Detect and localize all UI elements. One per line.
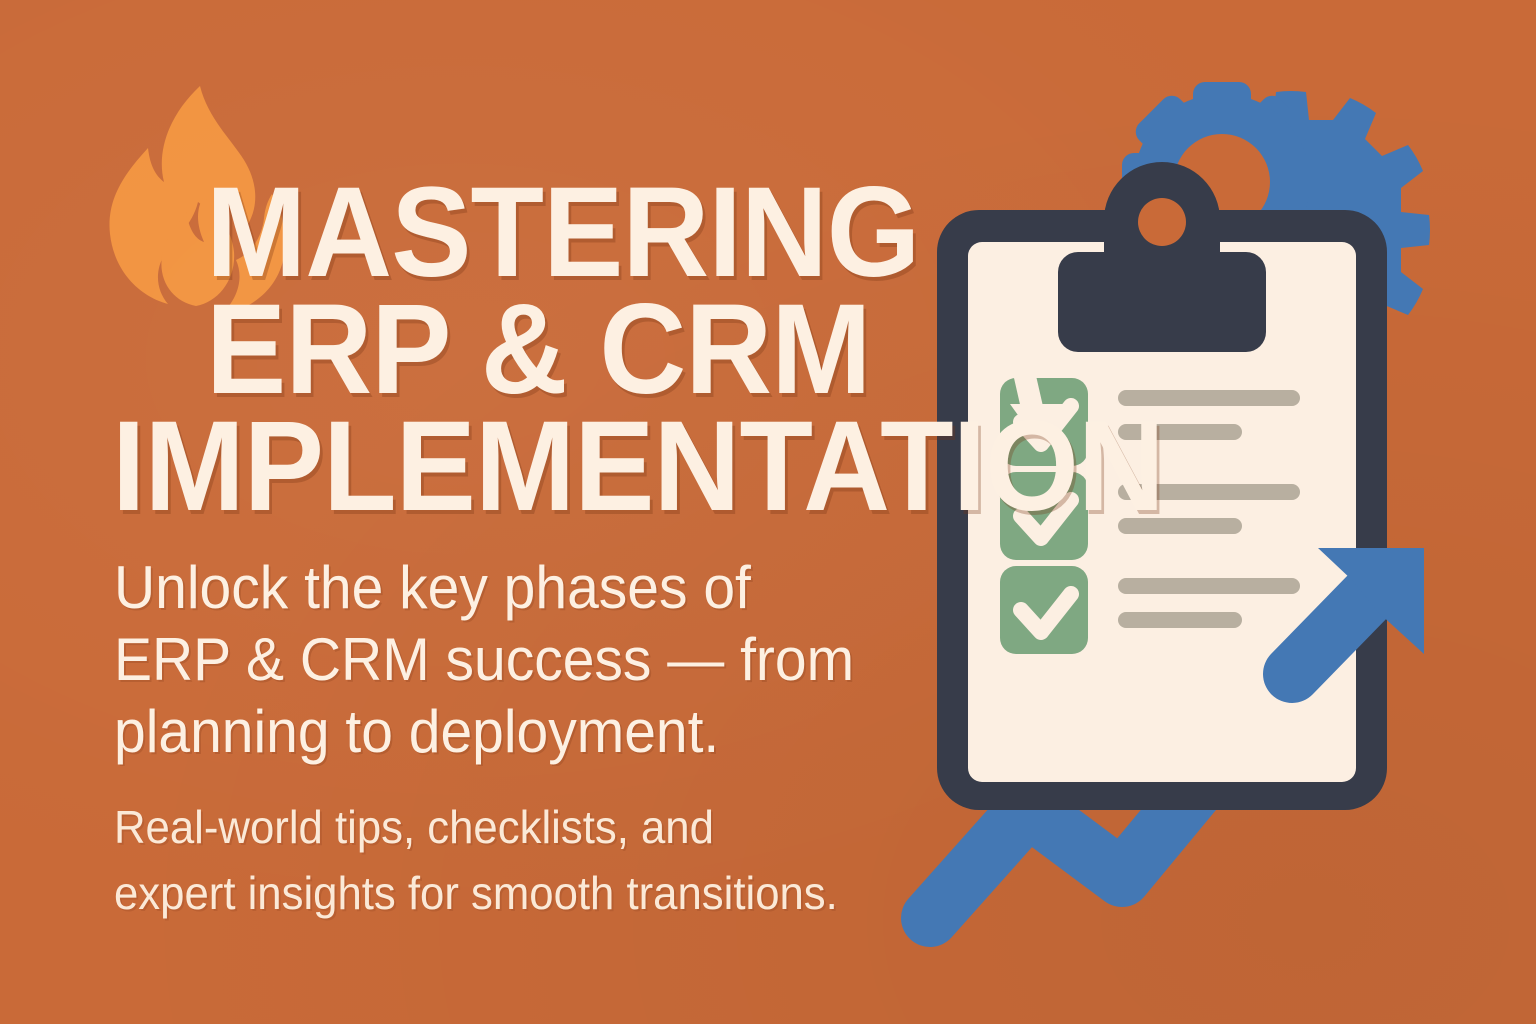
checklist-line-long-3 <box>1118 578 1300 594</box>
poster-canvas: MASTERING ERP & CRM IMPLEMENTATION Unloc… <box>0 0 1536 1024</box>
subtitle-line-3: planning to deployment. <box>114 696 836 768</box>
clipboard-illustration <box>900 60 1500 960</box>
supporting-text: Real-world tips, checklists, and expert … <box>114 794 969 926</box>
checklist-line-long-1 <box>1118 390 1300 406</box>
subtitle-line-1: Unlock the key phases of <box>114 552 836 624</box>
clip-hole <box>1138 198 1186 246</box>
checklist-line-short-1 <box>1118 424 1242 440</box>
supporting-text-line-2: expert insights for smooth transitions. <box>114 860 969 926</box>
checklist-line-short-2 <box>1118 518 1242 534</box>
flame-icon <box>104 84 292 316</box>
checklist-line-long-2 <box>1118 484 1300 500</box>
checklist-line-short-3 <box>1118 612 1242 628</box>
subtitle: Unlock the key phases of ERP & CRM succe… <box>114 552 836 768</box>
subtitle-line-2: ERP & CRM success — from <box>114 624 836 696</box>
supporting-text-line-1: Real-world tips, checklists, and <box>114 794 969 860</box>
